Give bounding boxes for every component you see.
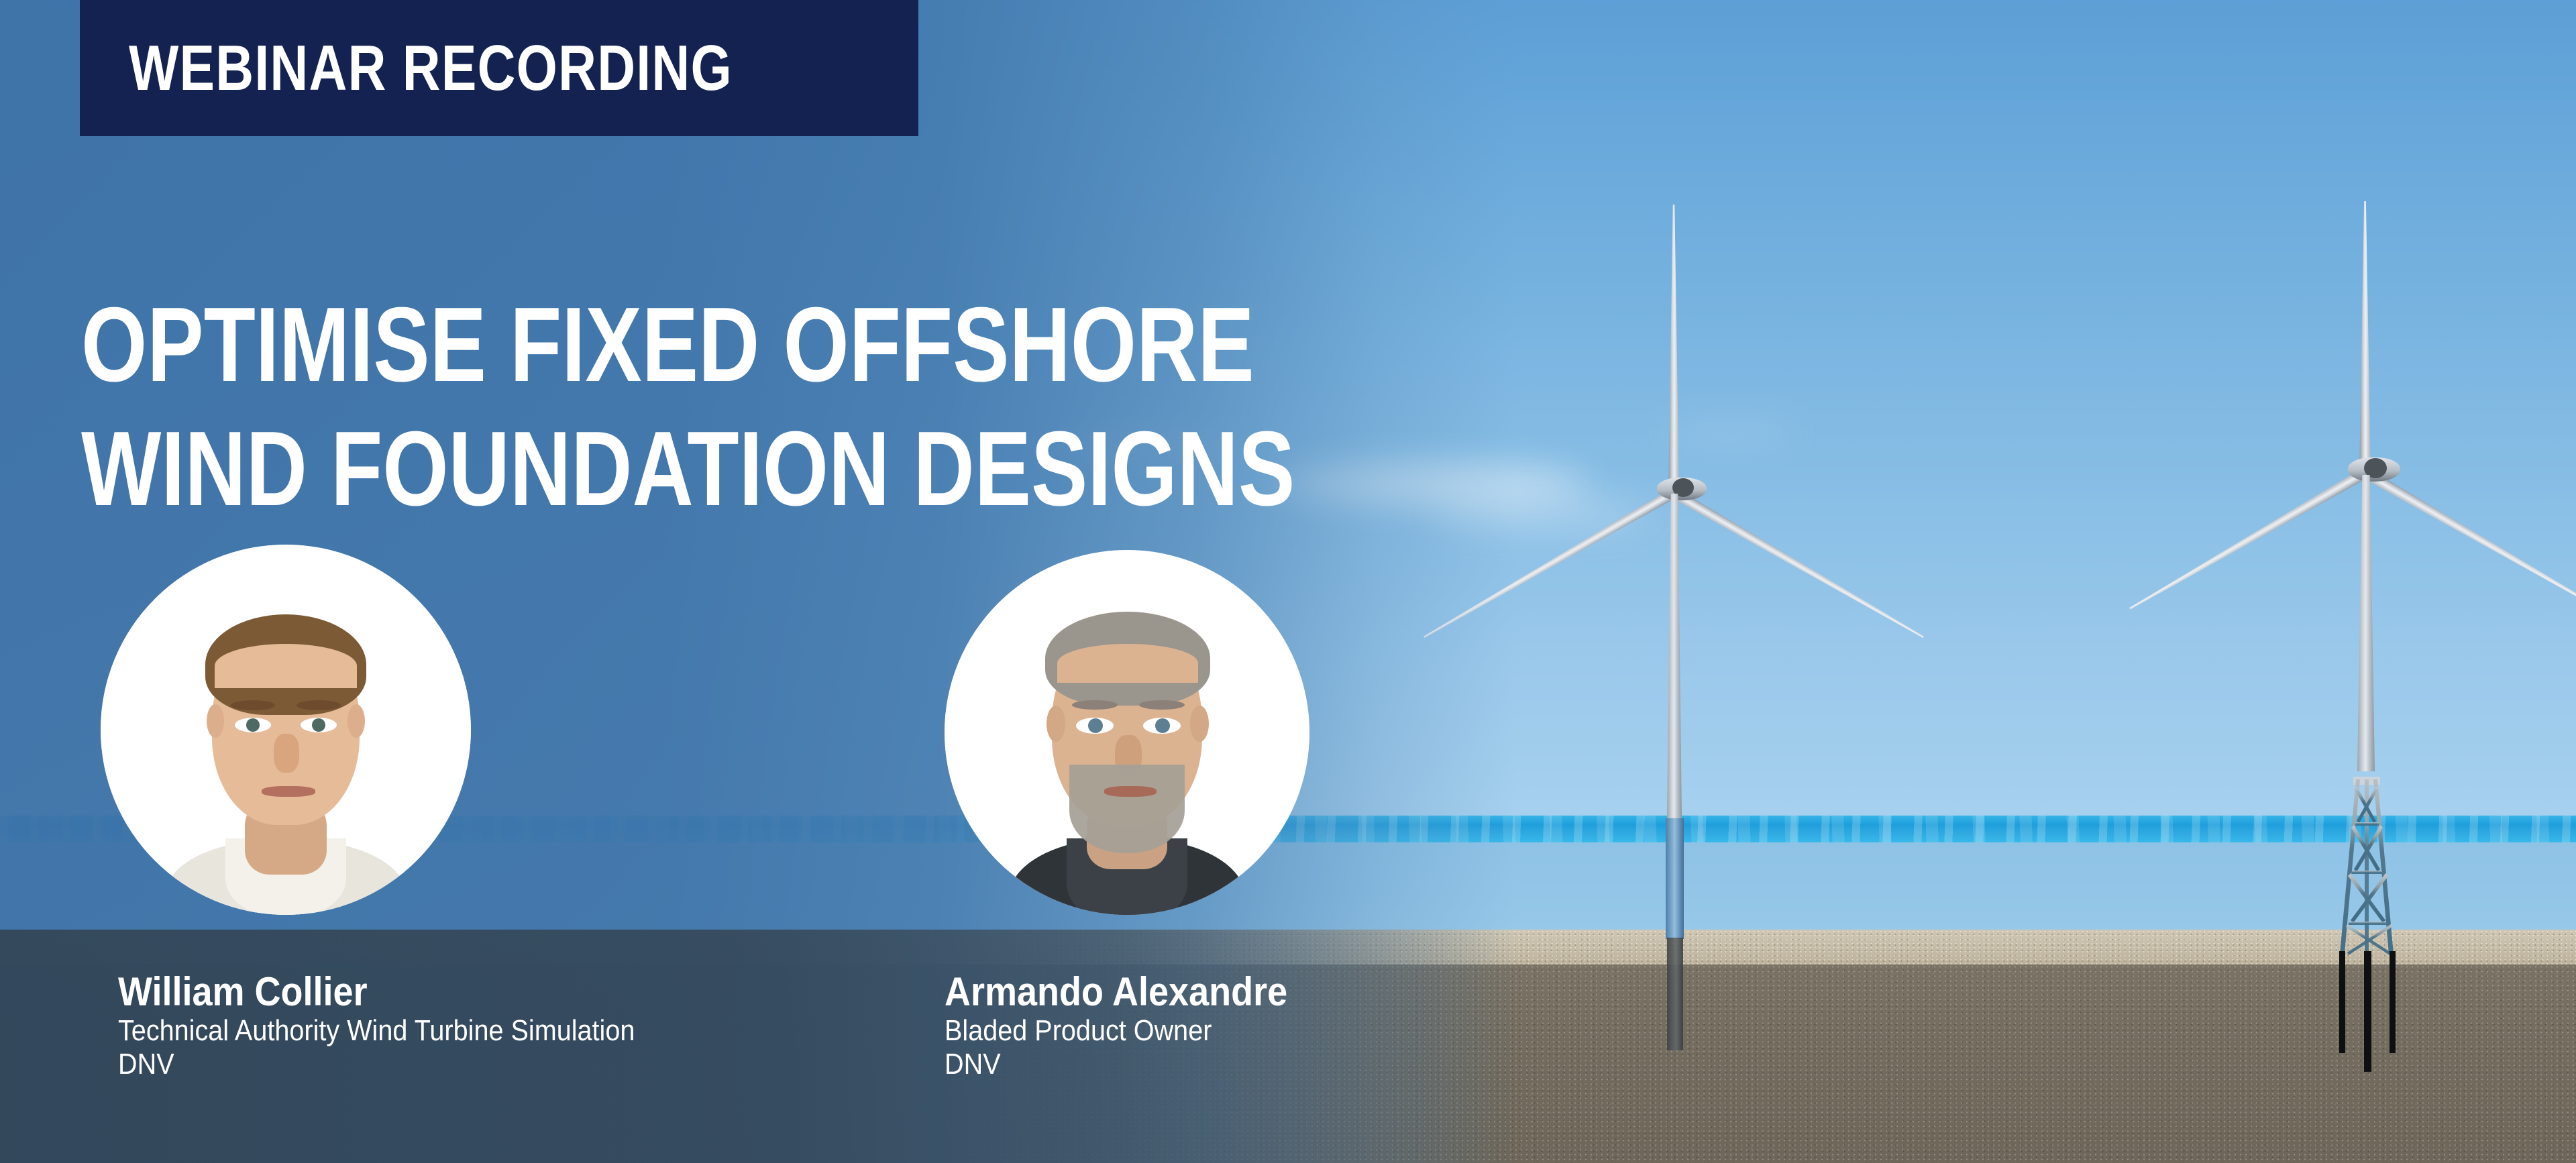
portrait-pupil bbox=[1088, 718, 1103, 733]
portrait-mouth bbox=[1104, 786, 1157, 797]
page-title: OPTIMISE FIXED OFFSHORE WIND FOUNDATION … bbox=[81, 283, 1691, 531]
portrait-ear bbox=[1190, 706, 1209, 742]
portrait-eyebrow bbox=[1139, 700, 1185, 710]
portrait-eyebrow bbox=[297, 700, 341, 710]
portrait-ear bbox=[1046, 706, 1065, 742]
portrait-pupil bbox=[1155, 718, 1170, 733]
portrait-eyebrow bbox=[1072, 700, 1118, 710]
title-line-1: OPTIMISE FIXED OFFSHORE bbox=[81, 283, 1369, 407]
portrait-pupil bbox=[246, 718, 260, 732]
banner-content: WEBINAR RECORDING OPTIMISE FIXED OFFSHOR… bbox=[0, 0, 2576, 1163]
speaker-organisation: DNV bbox=[118, 1048, 635, 1081]
avatar-william-collier bbox=[101, 545, 471, 915]
portrait-hair-shadow bbox=[1057, 644, 1198, 683]
speaker-block-armando-alexandre: Armando Alexandre Bladed Product Owner D… bbox=[945, 970, 1326, 1081]
portrait-pupil bbox=[312, 718, 325, 732]
title-line-2: WIND FOUNDATION DESIGNS bbox=[81, 407, 1369, 531]
portrait-eyebrow bbox=[231, 700, 275, 710]
webinar-recording-badge: WEBINAR RECORDING bbox=[80, 0, 918, 136]
badge-label: WEBINAR RECORDING bbox=[80, 36, 733, 101]
speaker-block-william-collier: William Collier Technical Authority Wind… bbox=[118, 970, 692, 1081]
speaker-role: Bladed Product Owner bbox=[945, 1014, 1287, 1048]
speaker-name: Armando Alexandre bbox=[945, 970, 1287, 1014]
speaker-name: William Collier bbox=[118, 970, 635, 1014]
portrait-hair-shadow bbox=[215, 644, 357, 688]
portrait-ear bbox=[347, 704, 365, 738]
portrait-mouth bbox=[262, 786, 315, 797]
portrait-nose bbox=[274, 734, 299, 773]
portrait-beard bbox=[1069, 765, 1185, 853]
portrait-armando-alexandre bbox=[945, 550, 1309, 915]
portrait-ear bbox=[207, 704, 224, 738]
avatar-armando-alexandre bbox=[945, 550, 1309, 915]
portrait-william-collier bbox=[101, 545, 471, 915]
speaker-role: Technical Authority Wind Turbine Simulat… bbox=[118, 1014, 635, 1048]
speaker-organisation: DNV bbox=[945, 1048, 1287, 1081]
webinar-banner: WEBINAR RECORDING OPTIMISE FIXED OFFSHOR… bbox=[0, 0, 2576, 1163]
